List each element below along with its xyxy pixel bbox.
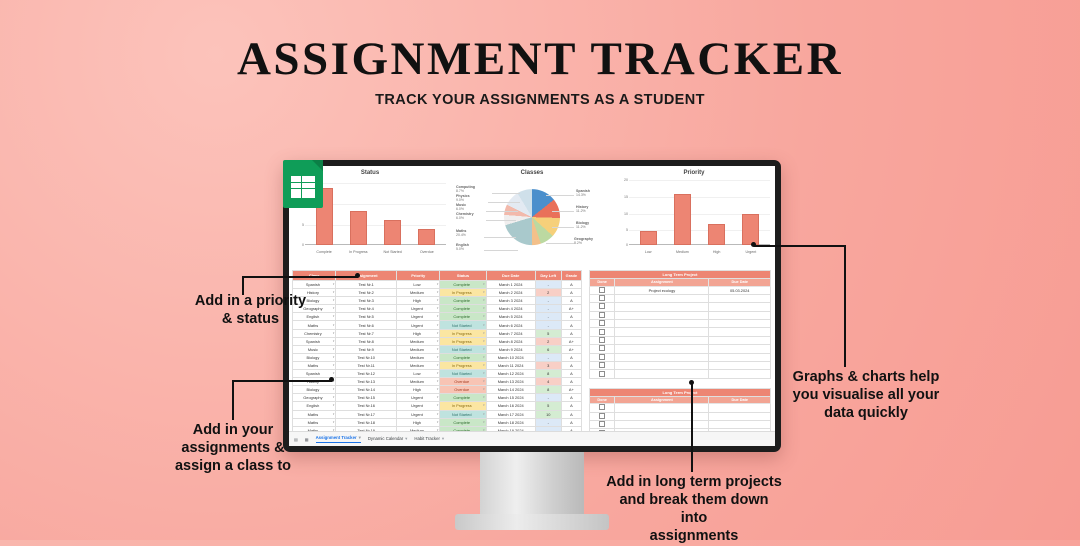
table-row[interactable]: MusicTest Nr.9MediumNot StartedMarch 9 2…	[293, 345, 582, 353]
cell-priority[interactable]: Low	[397, 281, 440, 289]
cell-day-left[interactable]: -	[535, 321, 561, 329]
long-term-project-title: Long Term Project	[590, 271, 771, 279]
cell-assignment[interactable]: Test Nr.2	[336, 289, 397, 297]
page-subtitle: TRACK YOUR ASSIGNMENTS AS A STUDENT	[0, 92, 1080, 108]
cell-grade[interactable]: A	[561, 418, 581, 426]
cell-status[interactable]: Not Started	[440, 370, 486, 378]
cell-priority[interactable]: High	[397, 386, 440, 394]
annotation-priority-status: Add in a priority & status	[183, 293, 318, 329]
bar-high	[708, 224, 725, 245]
column-header: Assignment	[615, 396, 709, 404]
cell-due-date[interactable]	[709, 412, 771, 420]
cell-grade[interactable]: A	[561, 378, 581, 386]
checkbox[interactable]	[599, 303, 605, 309]
pie-label-geography: Geography 8.2%	[574, 237, 593, 246]
cell-assignment[interactable]: Test Nr.17	[336, 410, 397, 418]
table-row[interactable]: EnglishTest Nr.16UrgentIn ProgressMarch …	[293, 402, 582, 410]
list-item[interactable]	[590, 353, 771, 361]
list-item[interactable]	[590, 294, 771, 302]
monitor-frame: Status 15 10 5 0	[283, 160, 781, 452]
pie-label-english: English 5.0%	[456, 243, 469, 252]
table-row[interactable]: SpanishTest Nr.12LowNot StartedMarch 12 …	[293, 370, 582, 378]
cell-class[interactable]: Spanish	[293, 337, 336, 345]
long-term-project-title: Long Term Project	[590, 388, 771, 396]
cell-due-date[interactable]	[709, 362, 771, 370]
sheet-tab-habit-tracker[interactable]: Habit Tracker▾	[414, 436, 444, 442]
cell-assignment[interactable]	[615, 294, 709, 302]
list-item[interactable]	[590, 412, 771, 420]
cell-priority[interactable]: Urgent	[397, 305, 440, 313]
cell-grade[interactable]: A	[561, 361, 581, 369]
cell-priority[interactable]: Urgent	[397, 394, 440, 402]
column-header: Priority	[397, 271, 440, 281]
checkbox[interactable]	[599, 287, 605, 293]
cell-assignment[interactable]: Test Nr.18	[336, 418, 397, 426]
cell-done[interactable]	[590, 303, 615, 311]
cell-assignment[interactable]	[615, 328, 709, 336]
cell-done[interactable]	[590, 345, 615, 353]
cell-day-left[interactable]: 3	[535, 361, 561, 369]
chart-priority-xlabels: Low Medium High Urgent	[631, 250, 768, 254]
cell-status[interactable]: Complete	[440, 394, 486, 402]
table-row[interactable]: BiologyTest Nr.10MediumCompleteMarch 10 …	[293, 353, 582, 361]
cell-day-left[interactable]: 2	[535, 289, 561, 297]
cell-due-date[interactable]: March 1 2024	[486, 281, 535, 289]
cell-grade[interactable]: A+	[561, 337, 581, 345]
table-row[interactable]: BiologyTest Nr.14HighOverdueMarch 14 202…	[293, 386, 582, 394]
cell-grade[interactable]: A	[561, 329, 581, 337]
cell-priority[interactable]: Medium	[397, 345, 440, 353]
cell-due-date[interactable]	[709, 294, 771, 302]
cell-assignment[interactable]	[615, 311, 709, 319]
spreadsheet-screen: Status 15 10 5 0	[289, 166, 775, 446]
cell-priority[interactable]: Urgent	[397, 321, 440, 329]
cell-due-date[interactable]	[709, 336, 771, 344]
cell-due-date[interactable]: March 14 2024	[486, 386, 535, 394]
cell-status[interactable]: Not Started	[440, 345, 486, 353]
cell-due-date[interactable]: March 3 2024	[486, 297, 535, 305]
assignment-table[interactable]: ClassAssignmentPriorityStatusDue DateDay…	[292, 270, 582, 446]
table-row[interactable]: HistoryTest Nr.2MediumIn ProgressMarch 2…	[293, 289, 582, 297]
leader-line	[232, 380, 234, 420]
cell-due-date[interactable]	[709, 320, 771, 328]
list-item[interactable]	[590, 311, 771, 319]
cell-assignment[interactable]: Test Nr.8	[336, 337, 397, 345]
cell-due-date[interactable]: March 10 2024	[486, 353, 535, 361]
cell-grade[interactable]: A	[561, 370, 581, 378]
list-item[interactable]	[590, 320, 771, 328]
cell-status[interactable]: Complete	[440, 313, 486, 321]
cell-done[interactable]	[590, 336, 615, 344]
cell-due-date[interactable]: March 5 2024	[486, 313, 535, 321]
cell-priority[interactable]: High	[397, 297, 440, 305]
pie-label-spanish: Spanish 14.3%	[576, 189, 590, 198]
cell-due-date[interactable]	[709, 404, 771, 412]
table-row[interactable]: GeographyTest Nr.15UrgentCompleteMarch 1…	[293, 394, 582, 402]
table-row[interactable]: SpanishTest Nr.1LowCompleteMarch 1 2024-…	[293, 281, 582, 289]
column-header: Due Date	[486, 271, 535, 281]
annotation-assignments-class: Add in your assignments & assign a class…	[163, 422, 303, 476]
table-row[interactable]: BiologyTest Nr.3HighCompleteMarch 3 2024…	[293, 297, 582, 305]
cell-day-left[interactable]: 2	[535, 337, 561, 345]
cell-done[interactable]	[590, 404, 615, 412]
chevron-down-icon[interactable]: ▾	[405, 436, 407, 441]
table-row[interactable]: EnglishTest Nr.5UrgentCompleteMarch 5 20…	[293, 313, 582, 321]
cell-assignment[interactable]: Test Nr.13	[336, 378, 397, 386]
long-term-project-table[interactable]: Long Term ProjectDoneAssignmentDue DateP…	[589, 270, 771, 379]
cell-class[interactable]: Biology	[293, 386, 336, 394]
cell-done[interactable]	[590, 353, 615, 361]
cell-status[interactable]: In Progress	[440, 402, 486, 410]
sheet-body: ClassAssignmentPriorityStatusDue DateDay…	[289, 268, 775, 432]
cell-assignment[interactable]: Test Nr.6	[336, 321, 397, 329]
bar-not-started	[384, 220, 401, 245]
cell-due-date[interactable]: March 4 2024	[486, 305, 535, 313]
cell-priority[interactable]: Urgent	[397, 410, 440, 418]
cell-class[interactable]: Maths	[293, 410, 336, 418]
cell-status[interactable]: Not Started	[440, 321, 486, 329]
table-row[interactable]: GeographyTest Nr.4UrgentCompleteMarch 4 …	[293, 305, 582, 313]
cell-due-date[interactable]	[709, 303, 771, 311]
cell-due-date[interactable]: March 16 2024	[486, 402, 535, 410]
cell-status[interactable]: In Progress	[440, 289, 486, 297]
cell-grade[interactable]: A	[561, 410, 581, 418]
cell-status[interactable]: Complete	[440, 297, 486, 305]
list-item[interactable]	[590, 303, 771, 311]
cell-due-date[interactable]: 05.03.2024	[709, 286, 771, 294]
chart-classes-title: Classes	[454, 170, 610, 176]
long-term-project-blocks[interactable]: Long Term ProjectDoneAssignmentDue DateP…	[589, 270, 771, 438]
cell-day-left[interactable]: -	[535, 394, 561, 402]
sheet-tab-bar[interactable]: ▤ ▦ Assignment Tracker▾ Dynamic Calendar…	[289, 431, 775, 446]
cell-grade[interactable]: A+	[561, 345, 581, 353]
cell-assignment[interactable]: Test Nr.16	[336, 402, 397, 410]
cell-day-left[interactable]: -	[535, 297, 561, 305]
cell-due-date[interactable]: March 9 2024	[486, 345, 535, 353]
column-header: Done	[590, 396, 615, 404]
page-title: ASSIGNMENT TRACKER	[0, 32, 1080, 86]
cell-due-date[interactable]	[709, 370, 771, 378]
cell-status[interactable]: Overdue	[440, 378, 486, 386]
cell-day-left[interactable]: -	[535, 418, 561, 426]
table-row[interactable]: MathsTest Nr.18HighCompleteMarch 18 2024…	[293, 418, 582, 426]
chart-status-bars	[307, 177, 444, 245]
table-row[interactable]: MathsTest Nr.11MediumIn ProgressMarch 11…	[293, 361, 582, 369]
cell-priority[interactable]: Urgent	[397, 313, 440, 321]
cell-class[interactable]: Maths	[293, 361, 336, 369]
cell-status[interactable]: In Progress	[440, 329, 486, 337]
cell-day-left[interactable]: -	[535, 281, 561, 289]
cell-status[interactable]: Complete	[440, 353, 486, 361]
cell-class[interactable]: Music	[293, 345, 336, 353]
cell-priority[interactable]: Medium	[397, 289, 440, 297]
monitor-stand-base	[455, 514, 609, 530]
chart-status-xlabels: Complete In Progress Not Started Overdue	[307, 250, 444, 254]
cell-grade[interactable]: A	[561, 297, 581, 305]
checkbox[interactable]	[599, 421, 605, 427]
column-header: Day Left	[535, 271, 561, 281]
cell-grade[interactable]: A	[561, 321, 581, 329]
cell-assignment[interactable]	[615, 320, 709, 328]
checkbox[interactable]	[599, 295, 605, 301]
column-header: Assignment	[615, 279, 709, 287]
cell-due-date[interactable]	[709, 311, 771, 319]
pie-label-chemistry: Chemistry 6.0%	[456, 212, 474, 221]
sheet-tab-assignment-tracker[interactable]: Assignment Tracker▾	[316, 435, 361, 443]
cell-assignment[interactable]: Test Nr.11	[336, 361, 397, 369]
cell-priority[interactable]: High	[397, 329, 440, 337]
cell-assignment[interactable]: Test Nr.1	[336, 281, 397, 289]
bar-urgent	[742, 214, 759, 245]
checkbox[interactable]	[599, 312, 605, 318]
cell-day-left[interactable]: 10	[535, 410, 561, 418]
monitor-stand-neck	[480, 452, 584, 514]
cell-assignment[interactable]: Test Nr.5	[336, 313, 397, 321]
bar-in-progress	[350, 211, 367, 245]
checkbox[interactable]	[599, 329, 605, 335]
pie-label-physics: Physics 9.0%	[456, 194, 470, 203]
cell-done[interactable]	[590, 362, 615, 370]
pie-label-maths: Maths 20.4%	[456, 229, 466, 238]
leader-line	[844, 245, 846, 367]
cell-assignment[interactable]	[615, 345, 709, 353]
list-item[interactable]	[590, 421, 771, 429]
cell-done[interactable]	[590, 328, 615, 336]
cell-assignment[interactable]: Test Nr.7	[336, 329, 397, 337]
pie-label-biology: Biology 11.2%	[576, 221, 589, 230]
cell-grade[interactable]: A	[561, 402, 581, 410]
list-item[interactable]	[590, 345, 771, 353]
cell-priority[interactable]: Medium	[397, 361, 440, 369]
leader-dot	[329, 377, 334, 382]
cell-status[interactable]: Not Started	[440, 410, 486, 418]
add-sheet-icon[interactable]: ▦	[305, 437, 309, 442]
bar-medium	[674, 194, 691, 245]
cell-status[interactable]: In Progress	[440, 361, 486, 369]
chart-classes-plot: Spanish 14.3% History 11.2% Biology 11.2…	[454, 177, 610, 255]
cell-assignment[interactable]	[615, 412, 709, 420]
leader-line	[691, 382, 693, 472]
cell-priority[interactable]: Medium	[397, 378, 440, 386]
cell-due-date[interactable]	[709, 328, 771, 336]
leader-dot	[689, 380, 694, 385]
list-item[interactable]: Project ecology05.03.2024	[590, 286, 771, 294]
checkbox[interactable]	[599, 362, 605, 368]
cell-day-left[interactable]: -	[535, 305, 561, 313]
cell-status[interactable]: Overdue	[440, 386, 486, 394]
assignment-table-body[interactable]: SpanishTest Nr.1LowCompleteMarch 1 2024-…	[293, 281, 582, 447]
column-header: Done	[590, 279, 615, 287]
cell-status[interactable]: Complete	[440, 281, 486, 289]
leader-line	[754, 245, 846, 247]
annotation-graphs-charts: Graphs & charts help you visualise all y…	[780, 369, 952, 423]
leader-line	[242, 276, 358, 278]
cell-day-left[interactable]: 4	[535, 378, 561, 386]
cell-assignment[interactable]	[615, 421, 709, 429]
chart-priority-plot: 20 15 10 5 0	[618, 177, 770, 255]
pie-label-music: Music 6.0%	[456, 203, 466, 212]
list-item[interactable]	[590, 362, 771, 370]
chart-priority-yaxis: 20 15 10 5 0	[618, 177, 629, 245]
checkbox[interactable]	[599, 371, 605, 377]
cell-assignment[interactable]: Test Nr.9	[336, 345, 397, 353]
leader-dot	[355, 273, 360, 278]
charts-strip: Status 15 10 5 0	[289, 166, 775, 268]
checkbox[interactable]	[599, 354, 605, 360]
cell-class[interactable]: Chemistry	[293, 329, 336, 337]
cell-due-date[interactable]: March 11 2024	[486, 361, 535, 369]
cell-class[interactable]: English	[293, 402, 336, 410]
cell-day-left[interactable]: 6	[535, 345, 561, 353]
cell-grade[interactable]: A	[561, 394, 581, 402]
cell-grade[interactable]: A+	[561, 386, 581, 394]
cell-due-date[interactable]: March 15 2024	[486, 394, 535, 402]
table-row[interactable]: MathsTest Nr.6UrgentNot StartedMarch 6 2…	[293, 321, 582, 329]
cell-grade[interactable]: A	[561, 313, 581, 321]
cell-due-date[interactable]: March 12 2024	[486, 370, 535, 378]
column-header: Status	[440, 271, 486, 281]
cell-grade[interactable]: A	[561, 353, 581, 361]
checkbox[interactable]	[599, 337, 605, 343]
cell-assignment[interactable]	[615, 353, 709, 361]
cell-day-left[interactable]: -	[535, 313, 561, 321]
chart-priority: Priority 20 15 10 5 0	[613, 166, 775, 268]
long-term-projects-wrap[interactable]: Long Term ProjectDoneAssignmentDue DateP…	[585, 268, 775, 432]
cell-done[interactable]	[590, 421, 615, 429]
cell-grade[interactable]: A+	[561, 305, 581, 313]
table-row[interactable]: SpanishTest Nr.8MediumIn ProgressMarch 8…	[293, 337, 582, 345]
cell-due-date[interactable]	[709, 421, 771, 429]
leader-line	[242, 276, 244, 295]
cell-done[interactable]	[590, 370, 615, 378]
cell-due-date[interactable]: March 18 2024	[486, 418, 535, 426]
cell-day-left[interactable]: 8	[535, 386, 561, 394]
cell-assignment[interactable]: Test Nr.3	[336, 297, 397, 305]
cell-priority[interactable]: Medium	[397, 353, 440, 361]
cell-assignment[interactable]	[615, 336, 709, 344]
cell-priority[interactable]: Low	[397, 370, 440, 378]
cell-assignment[interactable]	[615, 404, 709, 412]
bar-overdue	[418, 229, 435, 245]
cell-day-left[interactable]: 8	[535, 370, 561, 378]
cell-due-date[interactable]: March 13 2024	[486, 378, 535, 386]
cell-assignment[interactable]: Project ecology	[615, 286, 709, 294]
bar-low	[640, 231, 657, 245]
cell-assignment[interactable]: Test Nr.10	[336, 353, 397, 361]
checkbox[interactable]	[599, 413, 605, 419]
cell-class[interactable]: Spanish	[293, 281, 336, 289]
sheet-tab-dynamic-calendar[interactable]: Dynamic Calendar▾	[368, 436, 408, 442]
cell-done[interactable]	[590, 311, 615, 319]
cell-assignment[interactable]	[615, 303, 709, 311]
cell-status[interactable]: Complete	[440, 305, 486, 313]
leader-dot	[751, 242, 756, 247]
cell-due-date[interactable]: March 7 2024	[486, 329, 535, 337]
cell-assignment[interactable]	[615, 370, 709, 378]
chart-classes: Classes Spanish 14.3% History 11.2%	[451, 166, 613, 268]
cell-assignment[interactable]: Test Nr.4	[336, 305, 397, 313]
cell-class[interactable]: Biology	[293, 353, 336, 361]
table-row[interactable]: ChemistryTest Nr.7HighIn ProgressMarch 7…	[293, 329, 582, 337]
table-row[interactable]: HistoryTest Nr.13MediumOverdueMarch 13 2…	[293, 378, 582, 386]
cell-done[interactable]	[590, 412, 615, 420]
cell-grade[interactable]: A	[561, 281, 581, 289]
column-header: Grade	[561, 271, 581, 281]
chart-priority-title: Priority	[616, 170, 772, 176]
cell-day-left[interactable]: 5	[535, 329, 561, 337]
cell-day-left[interactable]: -	[535, 353, 561, 361]
table-row[interactable]: MathsTest Nr.17UrgentNot StartedMarch 17…	[293, 410, 582, 418]
cell-status[interactable]: Complete	[440, 418, 486, 426]
list-item[interactable]	[590, 370, 771, 378]
cell-done[interactable]	[590, 294, 615, 302]
cell-due-date[interactable]: March 8 2024	[486, 337, 535, 345]
column-header: Due Date	[709, 279, 771, 287]
cell-done[interactable]	[590, 286, 615, 294]
pie-label-history: History 11.2%	[576, 205, 588, 214]
list-item[interactable]	[590, 336, 771, 344]
cell-priority[interactable]: Medium	[397, 337, 440, 345]
cell-due-date[interactable]: March 2 2024	[486, 289, 535, 297]
cell-due-date[interactable]	[709, 353, 771, 361]
pie-label-computing: Computing 8.7%	[456, 185, 475, 194]
cell-assignment[interactable]: Test Nr.15	[336, 394, 397, 402]
cell-done[interactable]	[590, 320, 615, 328]
chart-priority-bars	[631, 177, 768, 245]
cell-class[interactable]: Geography	[293, 394, 336, 402]
cell-priority[interactable]: High	[397, 418, 440, 426]
cell-priority[interactable]: Urgent	[397, 402, 440, 410]
checkbox[interactable]	[599, 320, 605, 326]
cell-due-date[interactable]: March 17 2024	[486, 410, 535, 418]
assignment-table-wrap[interactable]: ClassAssignmentPriorityStatusDue DateDay…	[289, 268, 585, 432]
chevron-down-icon[interactable]: ▾	[359, 435, 361, 440]
checkbox[interactable]	[599, 345, 605, 351]
cell-assignment[interactable]	[615, 362, 709, 370]
list-item[interactable]	[590, 328, 771, 336]
annotation-long-term-projects: Add in long term projects and break them…	[605, 474, 783, 546]
column-header: Due Date	[709, 396, 771, 404]
cell-due-date[interactable]	[709, 345, 771, 353]
cell-grade[interactable]: A	[561, 289, 581, 297]
checkbox[interactable]	[599, 404, 605, 410]
leader-line	[232, 380, 332, 382]
cell-assignment[interactable]: Test Nr.12	[336, 370, 397, 378]
cell-due-date[interactable]: March 6 2024	[486, 321, 535, 329]
chevron-down-icon[interactable]: ▾	[442, 436, 444, 441]
cell-day-left[interactable]: 5	[535, 402, 561, 410]
cell-assignment[interactable]: Test Nr.14	[336, 386, 397, 394]
cell-status[interactable]: In Progress	[440, 337, 486, 345]
list-item[interactable]	[590, 404, 771, 412]
google-sheets-icon	[283, 160, 323, 208]
